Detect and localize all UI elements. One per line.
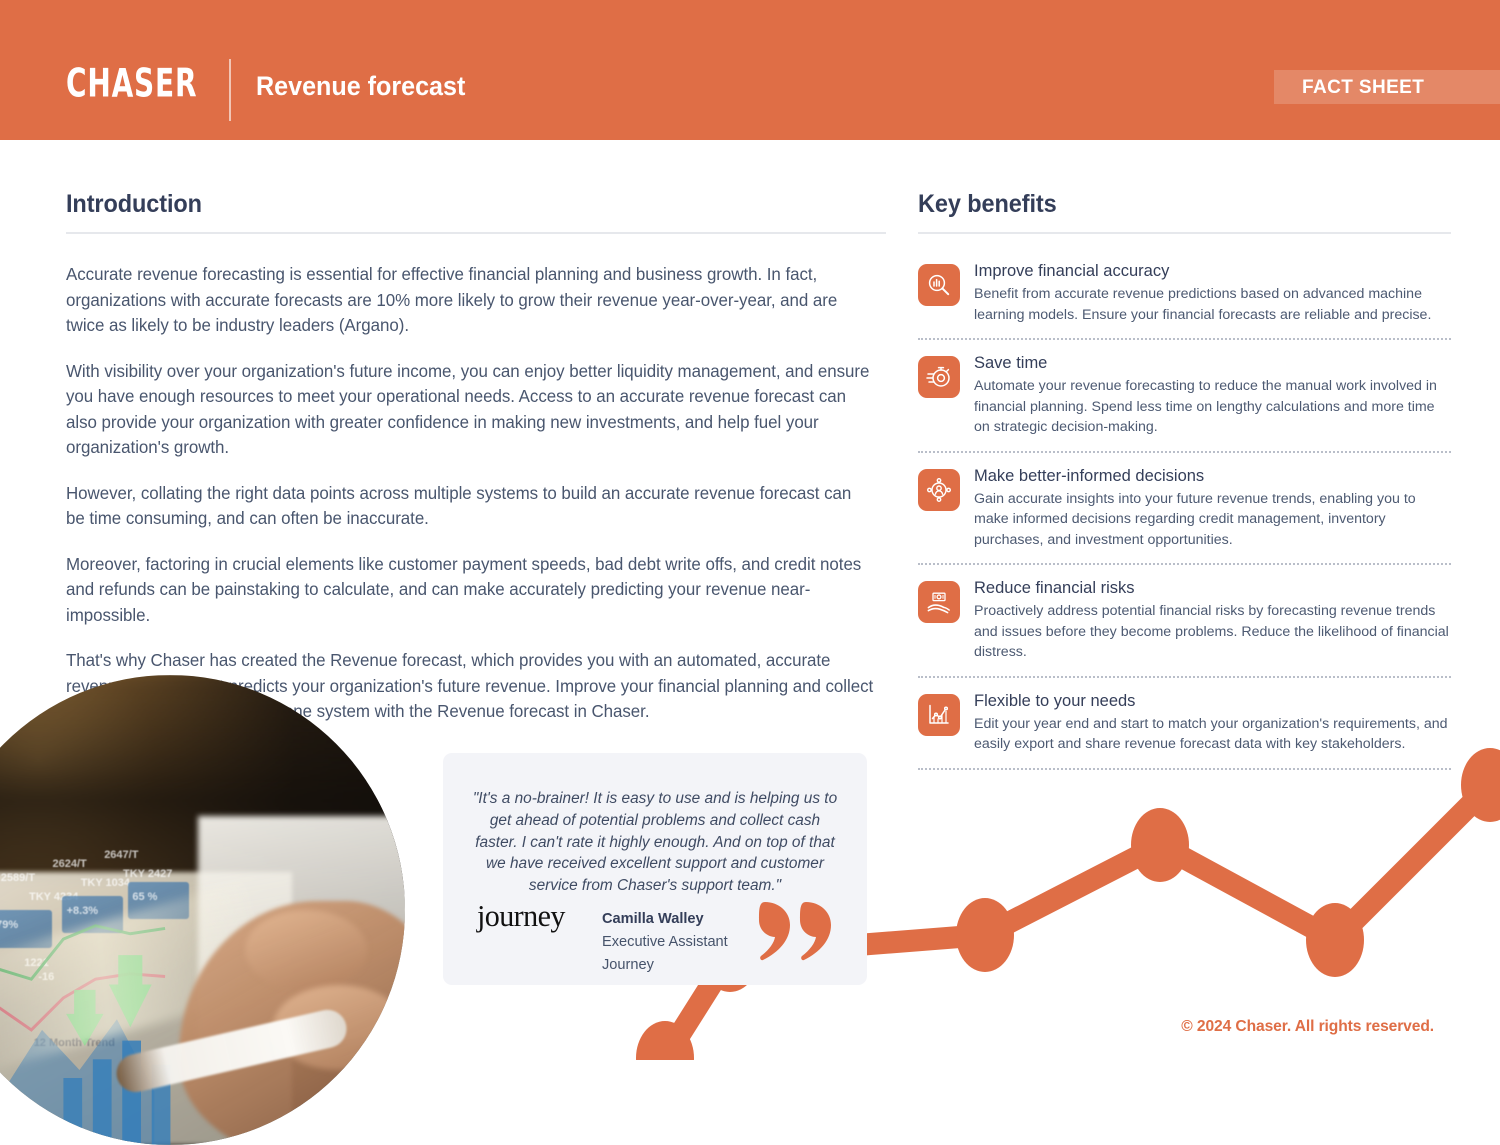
benefit-divider bbox=[918, 563, 1451, 565]
intro-paragraph-1: Accurate revenue forecasting is essentia… bbox=[66, 262, 874, 339]
hand-holding-money-icon bbox=[918, 581, 960, 623]
financial-dashboard-photo: 2571/T 2589/T 2624/T 2647/T TKY TKY 4234… bbox=[0, 675, 405, 1145]
testimonial-author-role: Executive Assistant bbox=[602, 931, 728, 954]
introduction-body: Accurate revenue forecasting is essentia… bbox=[66, 262, 886, 725]
photo-ticker-label: 2647/T bbox=[104, 849, 138, 861]
benefit-text: Make better-informed decisions Gain accu… bbox=[974, 466, 1451, 551]
photo-ticker-label: 2624/T bbox=[53, 858, 87, 870]
benefit-text: Reduce financial risks Proactively addre… bbox=[974, 578, 1451, 663]
testimonial-author-company: Journey bbox=[602, 954, 728, 977]
testimonial-quote: "It's a no-brainer! It is easy to use an… bbox=[469, 788, 841, 897]
header-divider bbox=[229, 59, 231, 121]
benefit-title: Save time bbox=[974, 353, 1451, 374]
closing-quote-marks-icon bbox=[757, 900, 835, 962]
testimonial-author-name: Camilla Walley bbox=[602, 908, 728, 931]
page-header: CHASER Revenue forecast FACT SHEET bbox=[0, 0, 1500, 140]
benefit-item: Make better-informed decisions Gain accu… bbox=[918, 466, 1451, 564]
benefit-title: Make better-informed decisions bbox=[974, 466, 1451, 487]
photo-inner: 2571/T 2589/T 2624/T 2647/T TKY TKY 4234… bbox=[0, 675, 405, 1145]
photo-ticker-label: TKY 2427 bbox=[123, 868, 172, 880]
intro-paragraph-4: Moreover, factoring in crucial elements … bbox=[66, 552, 874, 629]
intro-paragraph-3: However, collating the right data points… bbox=[66, 481, 874, 532]
fact-sheet-badge-label: FACT SHEET bbox=[1302, 77, 1424, 99]
benefit-divider bbox=[918, 338, 1451, 340]
person-network-icon bbox=[918, 469, 960, 511]
journey-logo: journey bbox=[477, 898, 565, 934]
fast-stopwatch-icon bbox=[918, 356, 960, 398]
benefit-text: Improve financial accuracy Benefit from … bbox=[974, 261, 1451, 325]
growth-chart-icon bbox=[918, 694, 960, 736]
magnifier-bar-chart-icon bbox=[918, 264, 960, 306]
photo-finger bbox=[245, 910, 367, 990]
footer-copyright: © 2024 Chaser. All rights reserved. bbox=[1181, 1018, 1434, 1036]
fact-sheet-badge: FACT SHEET bbox=[1274, 70, 1500, 104]
introduction-heading: Introduction bbox=[66, 190, 837, 219]
benefit-item: Reduce financial risks Proactively addre… bbox=[918, 578, 1451, 676]
benefit-description: Proactively address potential financial … bbox=[974, 601, 1451, 663]
key-benefits-section: Key benefits Improve financial accuracy … bbox=[918, 190, 1451, 783]
benefit-item: Improve financial accuracy Benefit from … bbox=[918, 261, 1451, 338]
benefit-title: Improve financial accuracy bbox=[974, 261, 1451, 282]
chaser-logo: CHASER bbox=[66, 62, 197, 107]
benefit-text: Flexible to your needs Edit your year en… bbox=[974, 691, 1451, 755]
benefit-description: Automate your revenue forecasting to red… bbox=[974, 376, 1451, 438]
key-benefits-heading: Key benefits bbox=[918, 190, 1419, 219]
photo-ticker-label: 2589/T bbox=[1, 872, 35, 884]
page-title: Revenue forecast bbox=[256, 71, 465, 102]
testimonial-attribution: Camilla Walley Executive Assistant Journ… bbox=[602, 908, 728, 977]
benefit-text: Save time Automate your revenue forecast… bbox=[974, 353, 1451, 438]
introduction-rule bbox=[66, 232, 886, 234]
benefit-title: Flexible to your needs bbox=[974, 691, 1451, 712]
benefit-divider bbox=[918, 676, 1451, 678]
benefit-item: Save time Automate your revenue forecast… bbox=[918, 353, 1451, 451]
benefit-title: Reduce financial risks bbox=[974, 578, 1451, 599]
benefit-description: Edit your year end and start to match yo… bbox=[974, 714, 1451, 755]
key-benefits-list: Improve financial accuracy Benefit from … bbox=[918, 261, 1451, 770]
intro-paragraph-2: With visibility over your organization's… bbox=[66, 359, 874, 461]
introduction-section: Introduction Accurate revenue forecastin… bbox=[66, 190, 886, 725]
key-benefits-rule bbox=[918, 232, 1451, 234]
benefit-description: Gain accurate insights into your future … bbox=[974, 489, 1451, 551]
benefit-divider bbox=[918, 768, 1451, 770]
benefit-item: Flexible to your needs Edit your year en… bbox=[918, 691, 1451, 768]
benefit-divider bbox=[918, 451, 1451, 453]
benefit-description: Benefit from accurate revenue prediction… bbox=[974, 284, 1451, 325]
